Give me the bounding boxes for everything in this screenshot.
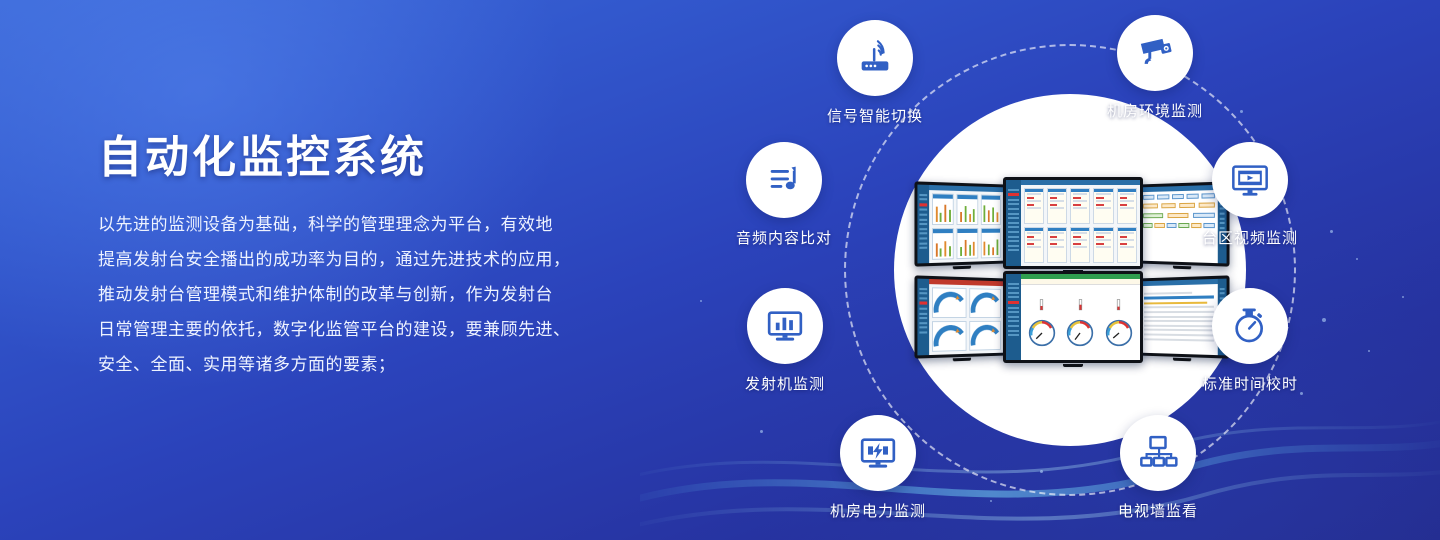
cctv-camera-icon: [1135, 33, 1175, 73]
feature-item-room-environment[interactable]: 机房环境监测: [1075, 15, 1235, 121]
page-title: 自动化监控系统: [98, 132, 698, 185]
screen-sidebar: [917, 185, 929, 264]
feature-label: 台区视频监测: [1170, 227, 1330, 248]
feature-label: 标准时间校时: [1170, 373, 1330, 394]
monitor-power-icon: [858, 433, 898, 473]
audio-note-icon: [764, 160, 804, 200]
feature-item-room-power[interactable]: 机房电力监测: [798, 415, 958, 521]
description-line: 日常管理主要的依托，数字化监管平台的建设，要兼顾先进、: [98, 312, 698, 347]
monitor-screen-dialgauges[interactable]: [1003, 271, 1143, 363]
feature-label: 机房电力监测: [798, 500, 958, 521]
hero-banner: 自动化监控系统 以先进的监测设备为基础，科学的管理理念为平台，有效地 提高发射台…: [0, 0, 1440, 540]
feature-icon-bubble: [1117, 15, 1193, 91]
feature-label: 机房环境监测: [1075, 100, 1235, 121]
feature-icon-bubble: [1212, 142, 1288, 218]
monitor-screen-barcharts[interactable]: [914, 181, 1005, 266]
description-line: 推动发射台管理模式和维护体制的改革与创新，作为发射台: [98, 277, 698, 312]
feature-item-transmitter[interactable]: 发射机监测: [705, 288, 865, 394]
feature-item-area-video[interactable]: 台区视频监测: [1170, 142, 1330, 248]
description-line: 提高发射台安全播出的成功率为目的，通过先进技术的应用，: [98, 242, 698, 277]
feature-label: 发射机监测: [705, 373, 865, 394]
router-wifi-icon: [855, 38, 895, 78]
monitor-video-icon: [1230, 160, 1270, 200]
description-line: 以先进的监测设备为基础，科学的管理理念为平台，有效地: [98, 207, 698, 242]
feature-item-signal-switch[interactable]: 信号智能切换: [795, 20, 955, 126]
hero-copy: 自动化监控系统 以先进的监测设备为基础，科学的管理理念为平台，有效地 提高发射台…: [98, 132, 698, 382]
hero-description: 以先进的监测设备为基础，科学的管理理念为平台，有效地 提高发射台安全播出的成功率…: [98, 207, 698, 382]
feature-diagram: 信号智能切换 机房环境监测: [700, 0, 1440, 540]
monitor-barchart-icon: [765, 306, 805, 346]
feature-item-time-sync[interactable]: 标准时间校时: [1170, 288, 1330, 394]
feature-label: 信号智能切换: [795, 105, 955, 126]
feature-icon-bubble: [746, 142, 822, 218]
feature-icon-bubble: [1120, 415, 1196, 491]
feature-icon-bubble: [837, 20, 913, 96]
monitor-screen-arcgauges[interactable]: [914, 275, 1005, 358]
feature-icon-bubble: [1212, 288, 1288, 364]
feature-icon-bubble: [747, 288, 823, 364]
sitemap-icon: [1138, 433, 1178, 473]
feature-item-tv-wall[interactable]: 电视墙监看: [1078, 415, 1238, 521]
feature-icon-bubble: [840, 415, 916, 491]
monitor-screen-datacards[interactable]: [1003, 177, 1143, 269]
feature-label: 电视墙监看: [1078, 500, 1238, 521]
stopwatch-icon: [1230, 306, 1270, 346]
feature-label: 音频内容比对: [704, 227, 864, 248]
description-line: 安全、全面、实用等诸多方面的要素；: [98, 347, 698, 382]
feature-item-audio-compare[interactable]: 音频内容比对: [704, 142, 864, 248]
